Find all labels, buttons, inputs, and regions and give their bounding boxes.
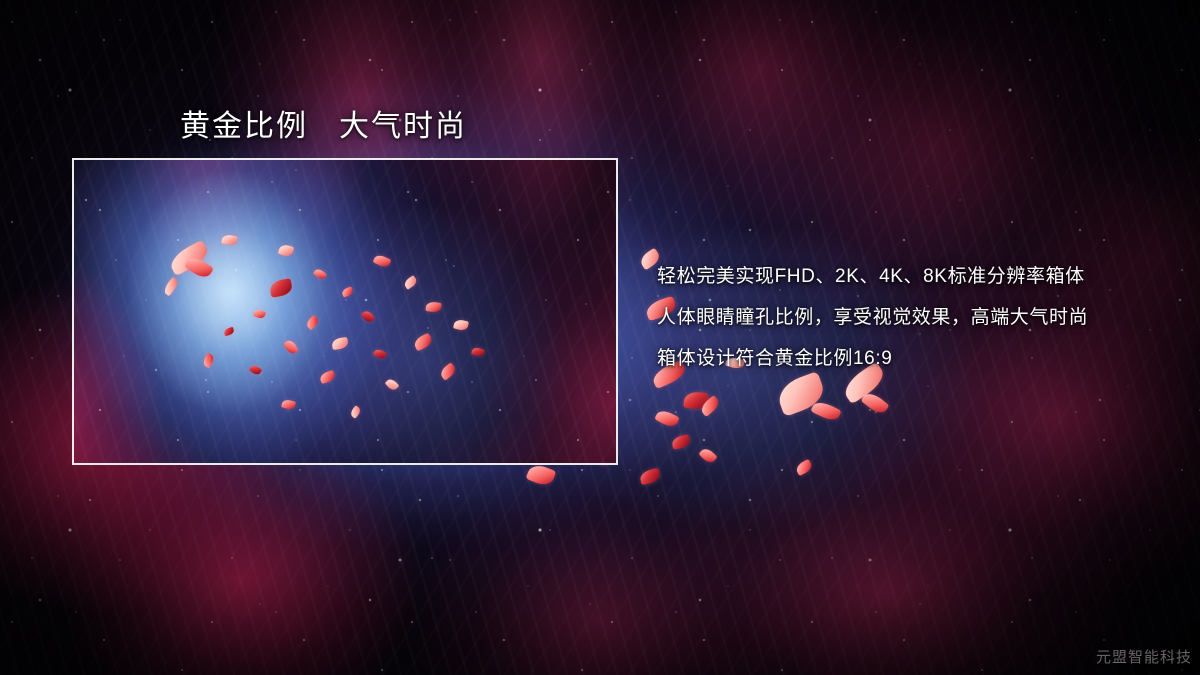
body-line: 轻松完美实现FHD、2K、4K、8K标准分辨率箱体 [657,256,1157,297]
rose-petal [810,399,841,424]
rose-petal [639,468,662,485]
rose-petal [683,391,709,410]
page-title: 黄金比例 大气时尚 [180,101,467,145]
framed-image-content [74,160,616,463]
presentation-slide: 黄金比例 大气时尚 轻松完美实现FHD、2K、4K、8K标准分辨率箱体 人体眼睛… [0,0,1200,675]
body-text-block: 轻松完美实现FHD、2K、4K、8K标准分辨率箱体 人体眼睛瞳孔比例，享受视觉效… [657,256,1157,379]
rose-petal [698,446,717,465]
rose-petal [671,434,691,449]
rose-petal [698,395,721,417]
rose-petal [526,462,557,488]
rose-petal [794,459,813,476]
frame-starfield-bright-icon [74,160,616,463]
framed-image-panel [72,158,618,465]
body-line: 箱体设计符合黄金比例16:9 [657,338,1157,379]
rose-petal [860,389,889,416]
body-line: 人体眼睛瞳孔比例，享受视觉效果，高端大气时尚 [657,297,1157,338]
rose-petal [654,408,680,430]
watermark-label: 元盟智能科技 [1096,646,1192,667]
